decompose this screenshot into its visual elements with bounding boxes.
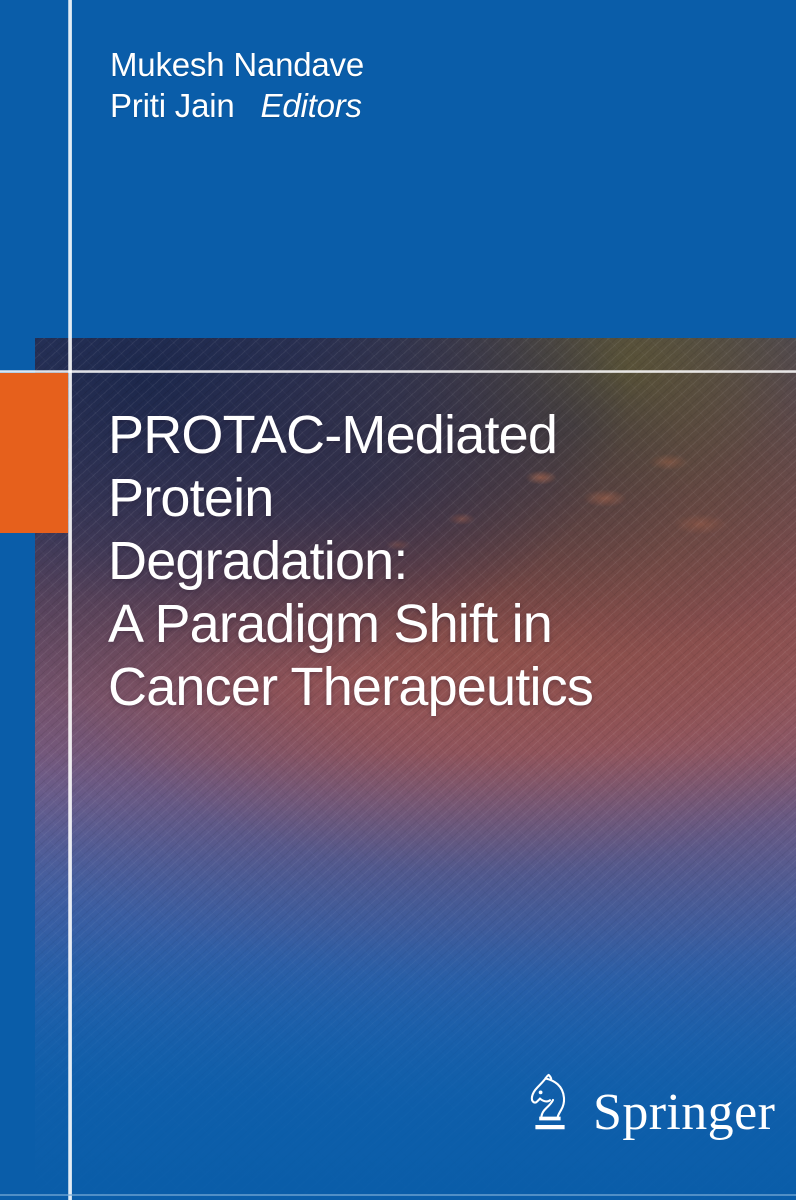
title-line-3: Degradation: — [108, 530, 748, 593]
bottom-edge-rule — [0, 1194, 796, 1196]
title-line-1: PROTAC-Mediated — [108, 404, 748, 467]
author-name-1: Mukesh Nandave — [110, 44, 730, 85]
orange-accent-block — [0, 373, 68, 533]
springer-wordmark: Springer — [593, 1087, 775, 1139]
title-line-4: A Paradigm Shift in — [108, 593, 748, 656]
horizontal-rule — [0, 370, 796, 373]
authors-block: Mukesh Nandave Priti JainEditors — [110, 44, 730, 126]
book-cover: Mukesh Nandave Priti JainEditors PROTAC-… — [0, 0, 796, 1200]
book-title: PROTAC-Mediated Protein Degradation: A P… — [108, 404, 748, 719]
title-line-5: Cancer Therapeutics — [108, 656, 748, 719]
publisher-logo: Springer — [527, 1072, 775, 1134]
springer-knight-icon — [527, 1072, 579, 1134]
author-name-2-row: Priti JainEditors — [110, 85, 730, 126]
author-name-2: Priti Jain — [110, 87, 235, 124]
title-line-2: Protein — [108, 467, 748, 530]
vertical-rule — [68, 0, 72, 1200]
left-blue-column — [0, 0, 35, 1200]
editors-label: Editors — [261, 87, 362, 124]
